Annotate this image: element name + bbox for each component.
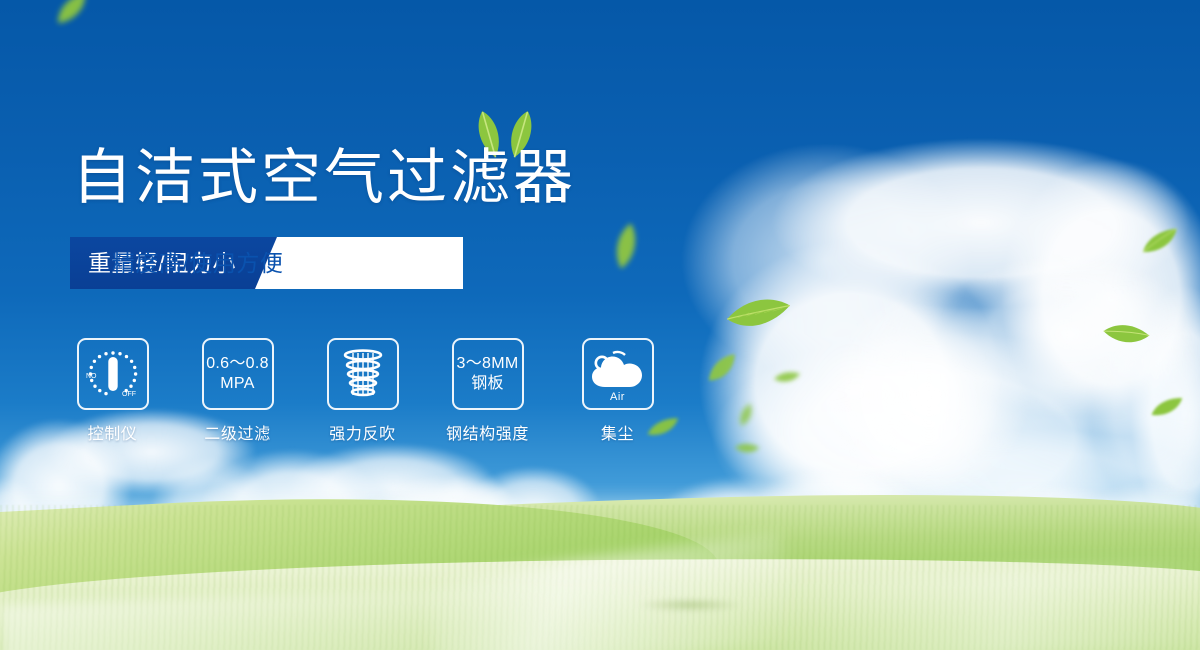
subtitle-right-label: 精度高/使用方便: [112, 237, 283, 289]
feature-icon-text: 0.6～0.8 MPA: [206, 354, 269, 393]
leaf-float-7: [1100, 311, 1152, 356]
dial-no-text: NO: [86, 373, 97, 380]
air-caption: Air: [584, 391, 652, 403]
subtitle-right-panel: [255, 237, 463, 289]
feature-icon-text: 3～8MM 钢板: [457, 354, 519, 393]
grass-shadow-spot: [620, 596, 760, 614]
leaf-float-4: [773, 367, 801, 386]
dial-off-text: OFF: [122, 391, 136, 398]
control-dial-icon: NO OFF: [77, 338, 149, 410]
subtitle-bar: 重量轻/阻力小 精度高/使用方便: [70, 237, 463, 289]
leaf-float-1: [607, 220, 644, 273]
feature-list: NO OFF 控制仪 0.6～0.8 MPA 二级过滤: [70, 338, 665, 444]
feature-item-control-panel[interactable]: NO OFF 控制仪: [70, 338, 155, 444]
leaf-float-8: [1149, 394, 1186, 421]
leaf-float-9: [733, 436, 761, 459]
leaf-float-2: [723, 277, 794, 349]
leaf-float-3: [702, 350, 742, 385]
feature-label: 集尘: [601, 420, 634, 444]
steel-plate-text-icon: 3～8MM 钢板: [452, 338, 524, 410]
feature-label: 二级过滤: [204, 420, 270, 444]
leaf-float-5: [731, 400, 761, 429]
hero-banner: 自洁式空气过滤器 重量轻/阻力小 精度高/使用方便: [0, 0, 1200, 650]
feature-item-strong-blowback[interactable]: 强力反吹: [320, 338, 405, 444]
page-title: 自洁式空气过滤器: [72, 146, 576, 210]
cloud-cumulus-lower: [800, 230, 1200, 530]
feature-item-dust-collection[interactable]: Air 集尘: [570, 338, 665, 444]
feature-item-two-stage-filter[interactable]: 0.6～0.8 MPA 二级过滤: [195, 338, 280, 444]
pressure-text-icon: 0.6～0.8 MPA: [202, 338, 274, 410]
air-cloud-icon: Air: [582, 338, 654, 410]
leaf-top-left: [48, 0, 95, 29]
filter-cartridge-icon: [327, 338, 399, 410]
feature-label: 控制仪: [88, 420, 138, 444]
feature-label: 钢结构强度: [446, 420, 529, 444]
leaf-float-6: [1138, 225, 1182, 256]
feature-label: 强力反吹: [329, 420, 395, 444]
feature-item-steel-strength[interactable]: 3～8MM 钢板 钢结构强度: [445, 338, 530, 444]
